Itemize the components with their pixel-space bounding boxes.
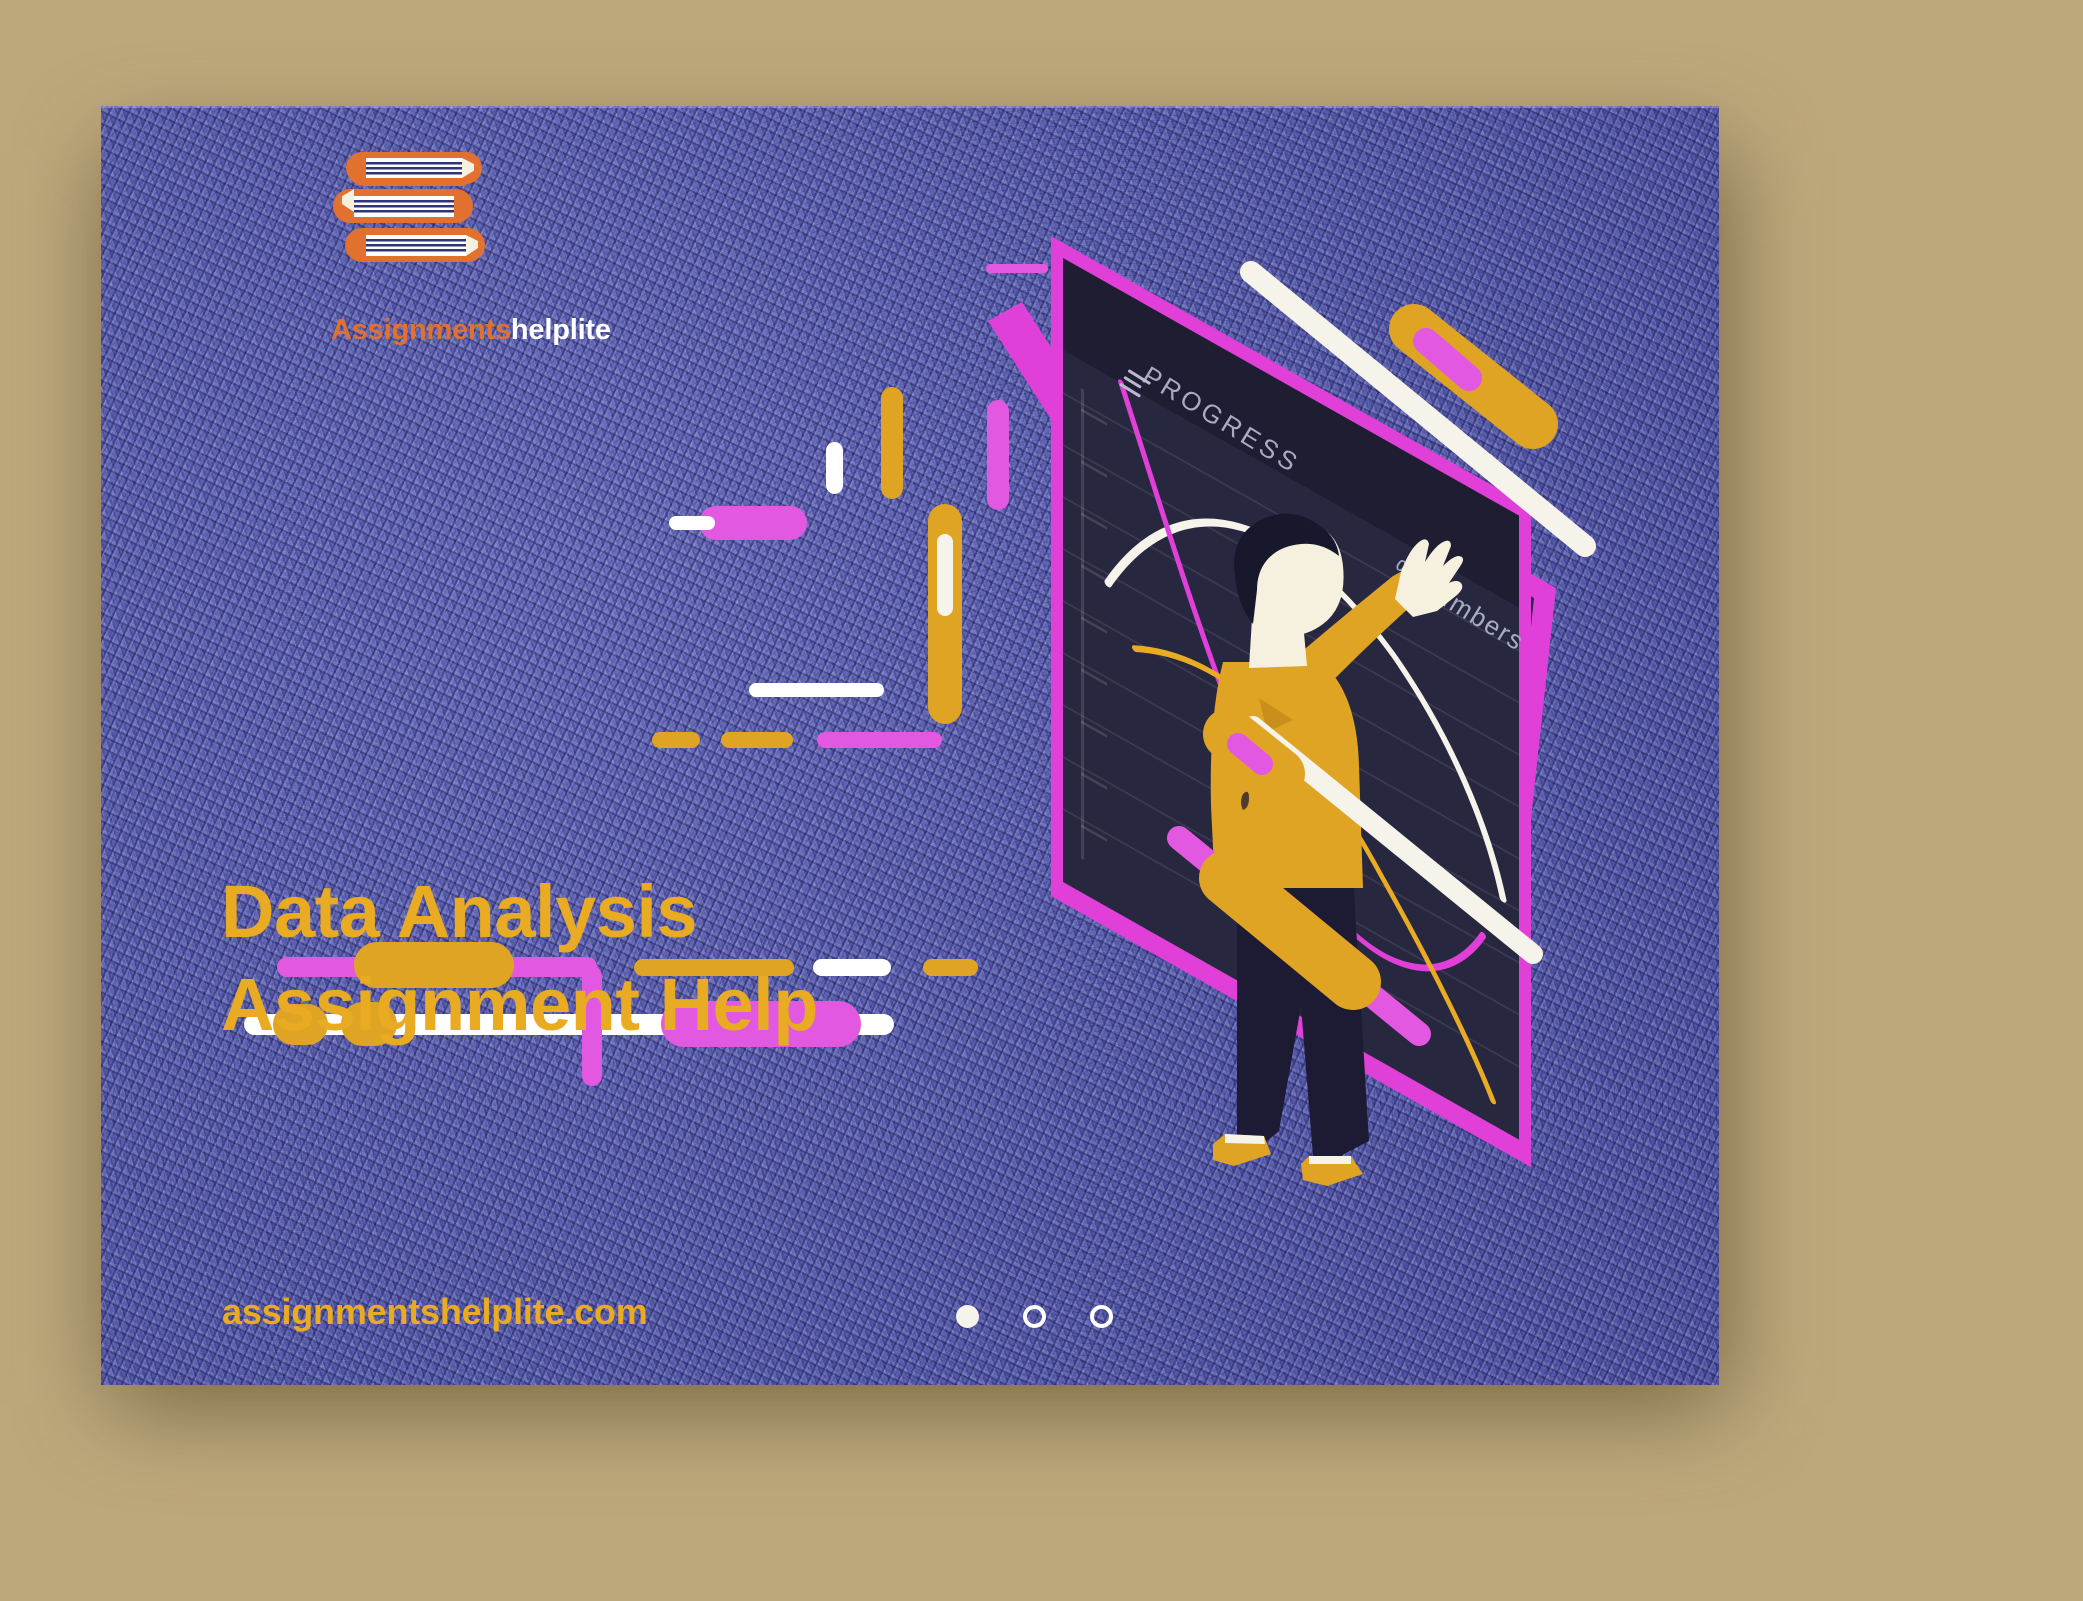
bar-white-inner <box>937 534 953 616</box>
person-hand <box>1395 539 1463 617</box>
hamburger-menu-icon[interactable] <box>1119 369 1152 400</box>
monitor-screen-face <box>1063 258 1519 1140</box>
carousel-dots[interactable] <box>956 1305 1113 1328</box>
bar-white-dash-1 <box>813 959 891 976</box>
screen-axis-label: % numbers <box>1387 553 1531 658</box>
diagonal-amber-capsule-top <box>1414 329 1533 424</box>
page-title: Data Analysis Assignment Help <box>221 866 818 1051</box>
bar-amber-dash-1 <box>652 732 700 748</box>
diagonal-magenta-core-top <box>1426 341 1469 378</box>
bar-magenta-h-mid <box>817 732 942 748</box>
banner-card: PROGRESS % numbers <box>101 106 1719 1385</box>
diagonal-magenta-bottom <box>1179 838 1419 1034</box>
screen-chart-curves <box>1063 258 1519 1140</box>
bar-amber-dash-2 <box>721 732 793 748</box>
bar-magenta-pill-h <box>699 506 807 540</box>
person-torso <box>1211 662 1363 888</box>
diagonal-magenta-core-small <box>1238 744 1262 764</box>
logo-text: Assignmentshelplite <box>331 314 611 347</box>
curve-white <box>1108 447 1503 898</box>
stacked-books-icon <box>236 146 496 316</box>
person-shoe-left <box>1213 1134 1271 1166</box>
bar-amber-dash-4 <box>923 959 978 976</box>
site-url[interactable]: assignmentshelplite.com <box>222 1291 648 1333</box>
person-hair <box>1234 514 1339 624</box>
bar-magenta-top-dash <box>986 264 1048 273</box>
logo-brand-second: helplite <box>511 314 611 346</box>
carousel-dot-2[interactable] <box>1023 1305 1046 1328</box>
carousel-dot-1[interactable] <box>956 1305 979 1328</box>
bar-white-short-v <box>826 442 843 494</box>
person-neck <box>1249 600 1307 668</box>
bracket-white-right <box>1377 266 1401 284</box>
carousel-dot-3[interactable] <box>1090 1305 1113 1328</box>
person-shoe-right <box>1301 1156 1363 1186</box>
page-background: PROGRESS % numbers <box>0 0 2083 1601</box>
person-arm <box>1269 561 1437 718</box>
person-legs <box>1237 876 1369 1166</box>
monitor-magenta-frame <box>1051 236 1531 1167</box>
screen-title-label: PROGRESS <box>1137 360 1306 480</box>
bar-magenta-v2 <box>1053 430 1075 730</box>
diagonal-white-top <box>1251 272 1585 546</box>
curve-amber <box>1135 629 1493 1101</box>
bar-white-h-small <box>669 516 715 530</box>
bar-magenta-v1 <box>987 400 1009 510</box>
bar-amber-v-right <box>1474 778 1493 886</box>
curve-magenta <box>1121 383 1483 1012</box>
screen-gridlines <box>1063 350 1519 1140</box>
diagonal-amber-capsule-small <box>1229 734 1279 774</box>
diagonal-amber-capsule-bottom <box>1227 878 1353 982</box>
person-head <box>1243 521 1344 636</box>
monitor-face <box>1069 356 1534 992</box>
bar-amber-v <box>881 387 903 499</box>
screen-panel <box>1003 106 1553 1188</box>
logo-brand-first: Assignments <box>331 314 511 346</box>
monitor-bevel <box>1054 328 1556 1022</box>
logo[interactable]: Assignmentshelplite <box>236 146 496 346</box>
bar-white-h-mid <box>749 683 884 697</box>
screen-axis-ruler <box>1081 388 1111 875</box>
monitor <box>1052 332 1561 1015</box>
screen-header-band <box>1063 258 1519 608</box>
